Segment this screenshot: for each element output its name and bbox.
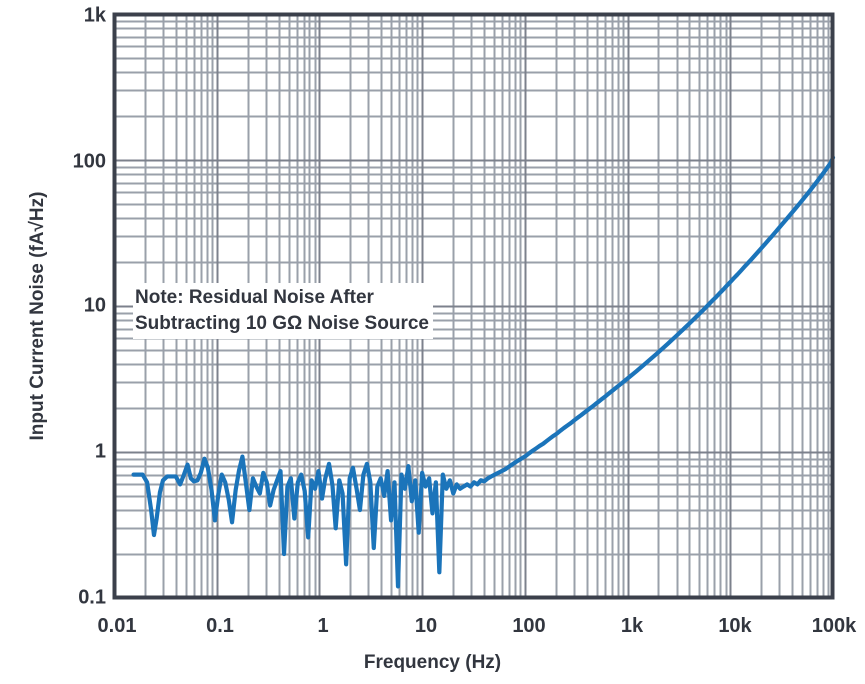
x-tick-label-10k: 10k xyxy=(718,615,751,638)
y-tick-label-10: 10 xyxy=(42,295,106,318)
y-tick-label-0.1: 0.1 xyxy=(42,587,106,610)
x-tick-label-1k: 1k xyxy=(621,615,643,638)
x-tick-label-10: 10 xyxy=(415,615,437,638)
y-axis-title: Input Current Noise (fA√Hz) xyxy=(27,16,49,616)
chart-figure: 1k 100 10 1 0.1 0.01 0.1 1 10 100 1k 10k… xyxy=(0,0,865,684)
x-tick-label-0.1: 0.1 xyxy=(206,615,234,638)
x-tick-label-1: 1 xyxy=(317,615,328,638)
x-tick-label-100: 100 xyxy=(512,615,545,638)
note-line-1: Note: Residual Noise After xyxy=(135,285,429,311)
y-tick-label-1: 1 xyxy=(42,441,106,464)
plot-canvas xyxy=(0,0,865,684)
note-line-2: Subtracting 10 GΩ Noise Source xyxy=(135,311,429,337)
x-tick-label-0.01: 0.01 xyxy=(98,615,137,638)
x-tick-label-100k: 100k xyxy=(812,615,857,638)
y-tick-label-1k: 1k xyxy=(58,5,106,28)
y-axis-title-text: Input Current Noise (fA√Hz) xyxy=(27,192,48,441)
x-axis-title: Frequency (Hz) xyxy=(0,652,865,674)
y-tick-label-100: 100 xyxy=(42,151,106,174)
residual-noise-note: Note: Residual Noise After Subtracting 1… xyxy=(133,283,433,339)
